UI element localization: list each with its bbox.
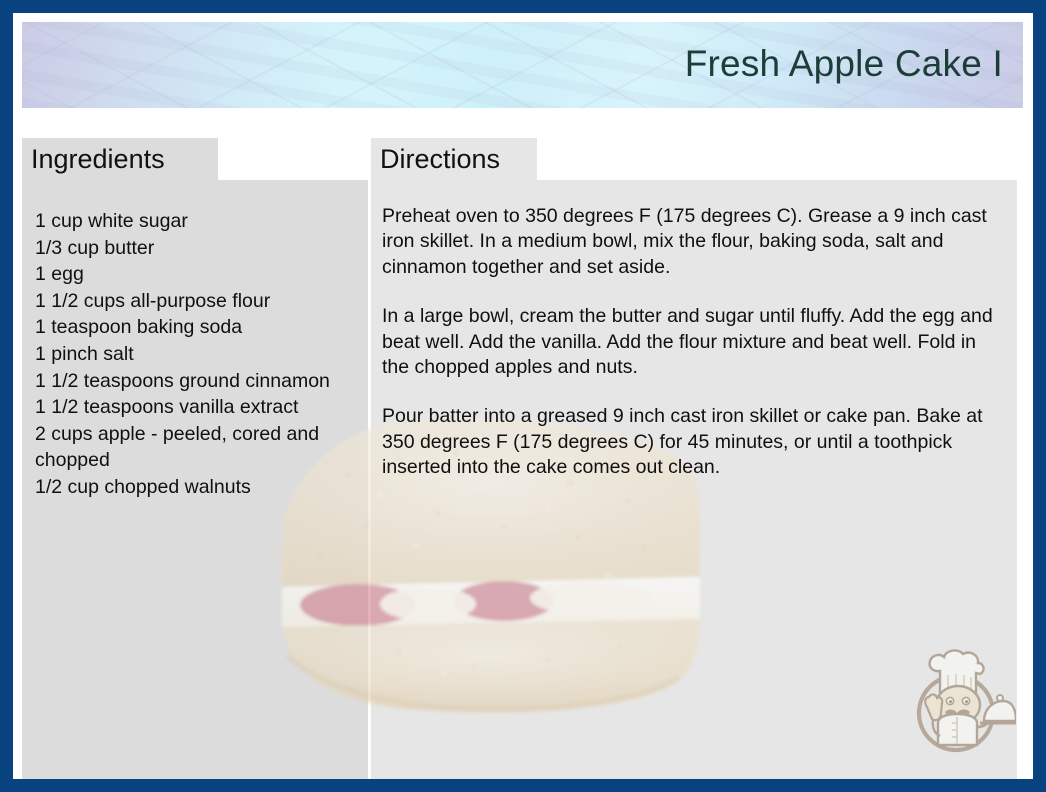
directions-panel: Preheat oven to 350 degrees F (175 degre… (371, 180, 1017, 779)
card-inner: Fresh Apple Cake I Ingredients Direction… (13, 13, 1033, 779)
directions-body: Preheat oven to 350 degrees F (175 degre… (371, 180, 1017, 481)
ingredient-item: 1 teaspoon baking soda (35, 314, 360, 341)
ingredients-heading-label: Ingredients (31, 146, 165, 173)
direction-paragraph: Pour batter into a greased 9 inch cast i… (382, 404, 1003, 480)
ingredients-panel: 1 cup white sugar 1/3 cup butter 1 egg 1… (22, 180, 368, 779)
ingredient-item: 1 1/2 cups all-purpose flour (35, 288, 360, 315)
recipe-card: Fresh Apple Cake I Ingredients Direction… (0, 0, 1046, 792)
directions-heading-label: Directions (380, 146, 500, 173)
ingredient-item: 1/2 cup chopped walnuts (35, 474, 360, 501)
header-banner: Fresh Apple Cake I (22, 22, 1023, 108)
ingredients-list: 1 cup white sugar 1/3 cup butter 1 egg 1… (22, 180, 368, 501)
ingredient-item: 1 1/2 teaspoons ground cinnamon (35, 368, 360, 395)
directions-section-header: Directions (371, 138, 537, 180)
ingredient-item: 1 1/2 teaspoons vanilla extract (35, 394, 360, 421)
direction-paragraph: In a large bowl, cream the butter and su… (382, 304, 1003, 380)
ingredient-item: 2 cups apple - peeled, cored and chopped (35, 421, 360, 474)
ingredient-item: 1/3 cup butter (35, 235, 360, 262)
direction-paragraph: Preheat oven to 350 degrees F (175 degre… (382, 204, 1003, 280)
ingredient-item: 1 egg (35, 261, 360, 288)
ingredient-item: 1 cup white sugar (35, 208, 360, 235)
ingredients-section-header: Ingredients (22, 138, 218, 180)
page-title: Fresh Apple Cake I (685, 43, 1003, 85)
ingredient-item: 1 pinch salt (35, 341, 360, 368)
